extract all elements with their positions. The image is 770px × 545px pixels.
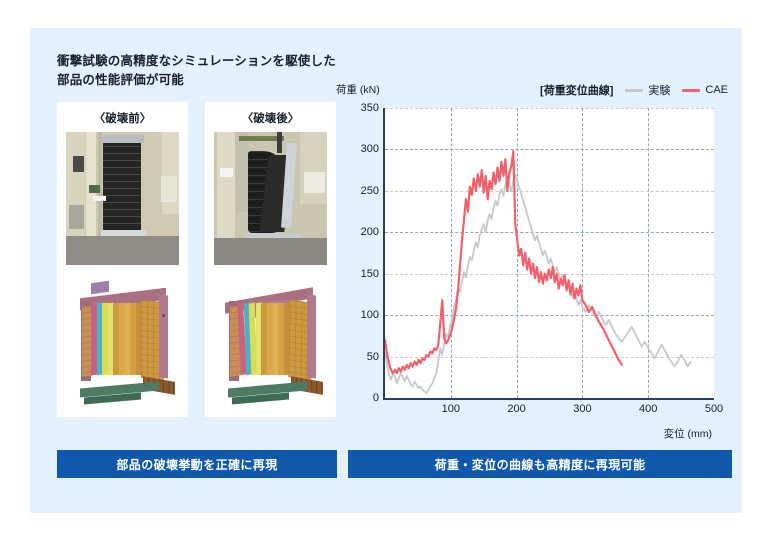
series-line-experiment <box>385 174 691 393</box>
legend-item-experiment: 実験 <box>625 82 670 98</box>
page-title: 衝撃試験の高精度なシミュレーションを駆使した 部品の性能評価が可能 <box>57 52 336 91</box>
photo-card-after: 〈破壊後〉 <box>205 102 336 417</box>
legend-label-experiment: 実験 <box>648 82 670 98</box>
test-rig-photo-before <box>66 132 179 265</box>
x-tick-label: 300 <box>573 403 591 415</box>
chart-header: [荷重変位曲線] 実験 CAE <box>540 82 728 98</box>
chart-x-axis-title: 変位 (mm) <box>383 426 712 441</box>
cae-model-render-after <box>214 274 327 408</box>
legend-label-cae: CAE <box>705 84 728 96</box>
y-tick-label: 250 <box>361 185 379 197</box>
legend-item-cae: CAE <box>682 84 728 96</box>
x-tick-label: 100 <box>442 403 460 415</box>
legend-swatch-cae <box>682 89 700 92</box>
banner-destruction-behavior: 部品の破壊挙動を正確に再現 <box>57 450 337 478</box>
chart-title: [荷重変位曲線] <box>540 82 613 98</box>
series-line-cae <box>385 151 622 373</box>
y-tick-label: 300 <box>361 143 379 155</box>
chart-y-axis-title: 荷重 (kN) <box>336 82 380 97</box>
legend-swatch-experiment <box>625 89 643 92</box>
banner-load-displacement: 荷重・変位の曲線も高精度に再現可能 <box>348 450 732 478</box>
y-tick-label: 50 <box>367 351 379 363</box>
y-tick-label: 100 <box>361 309 379 321</box>
photo-card-before: 〈破壊前〉 <box>57 102 188 417</box>
photo-card-title-after: 〈破壊後〉 <box>205 110 336 126</box>
y-tick-label: 350 <box>361 102 379 114</box>
x-tick-label: 400 <box>639 403 657 415</box>
chart-plot-area: 050100150200250300350 100200300400500 <box>383 108 714 400</box>
load-displacement-chart: 荷重 (kN) [荷重変位曲線] 実験 CAE 0501001502002503… <box>336 82 732 432</box>
x-tick-label: 200 <box>507 403 525 415</box>
y-tick-label: 0 <box>373 392 379 404</box>
photo-card-title-before: 〈破壊前〉 <box>57 110 188 126</box>
cae-model-render-before <box>66 274 179 408</box>
x-tick-label: 500 <box>705 403 723 415</box>
slide-root: 衝撃試験の高精度なシミュレーションを駆使した 部品の性能評価が可能 〈破壊前〉 <box>0 0 770 545</box>
y-tick-label: 150 <box>361 268 379 280</box>
chart-series-layer <box>385 108 714 398</box>
test-rig-photo-after <box>214 132 327 265</box>
y-tick-label: 200 <box>361 226 379 238</box>
